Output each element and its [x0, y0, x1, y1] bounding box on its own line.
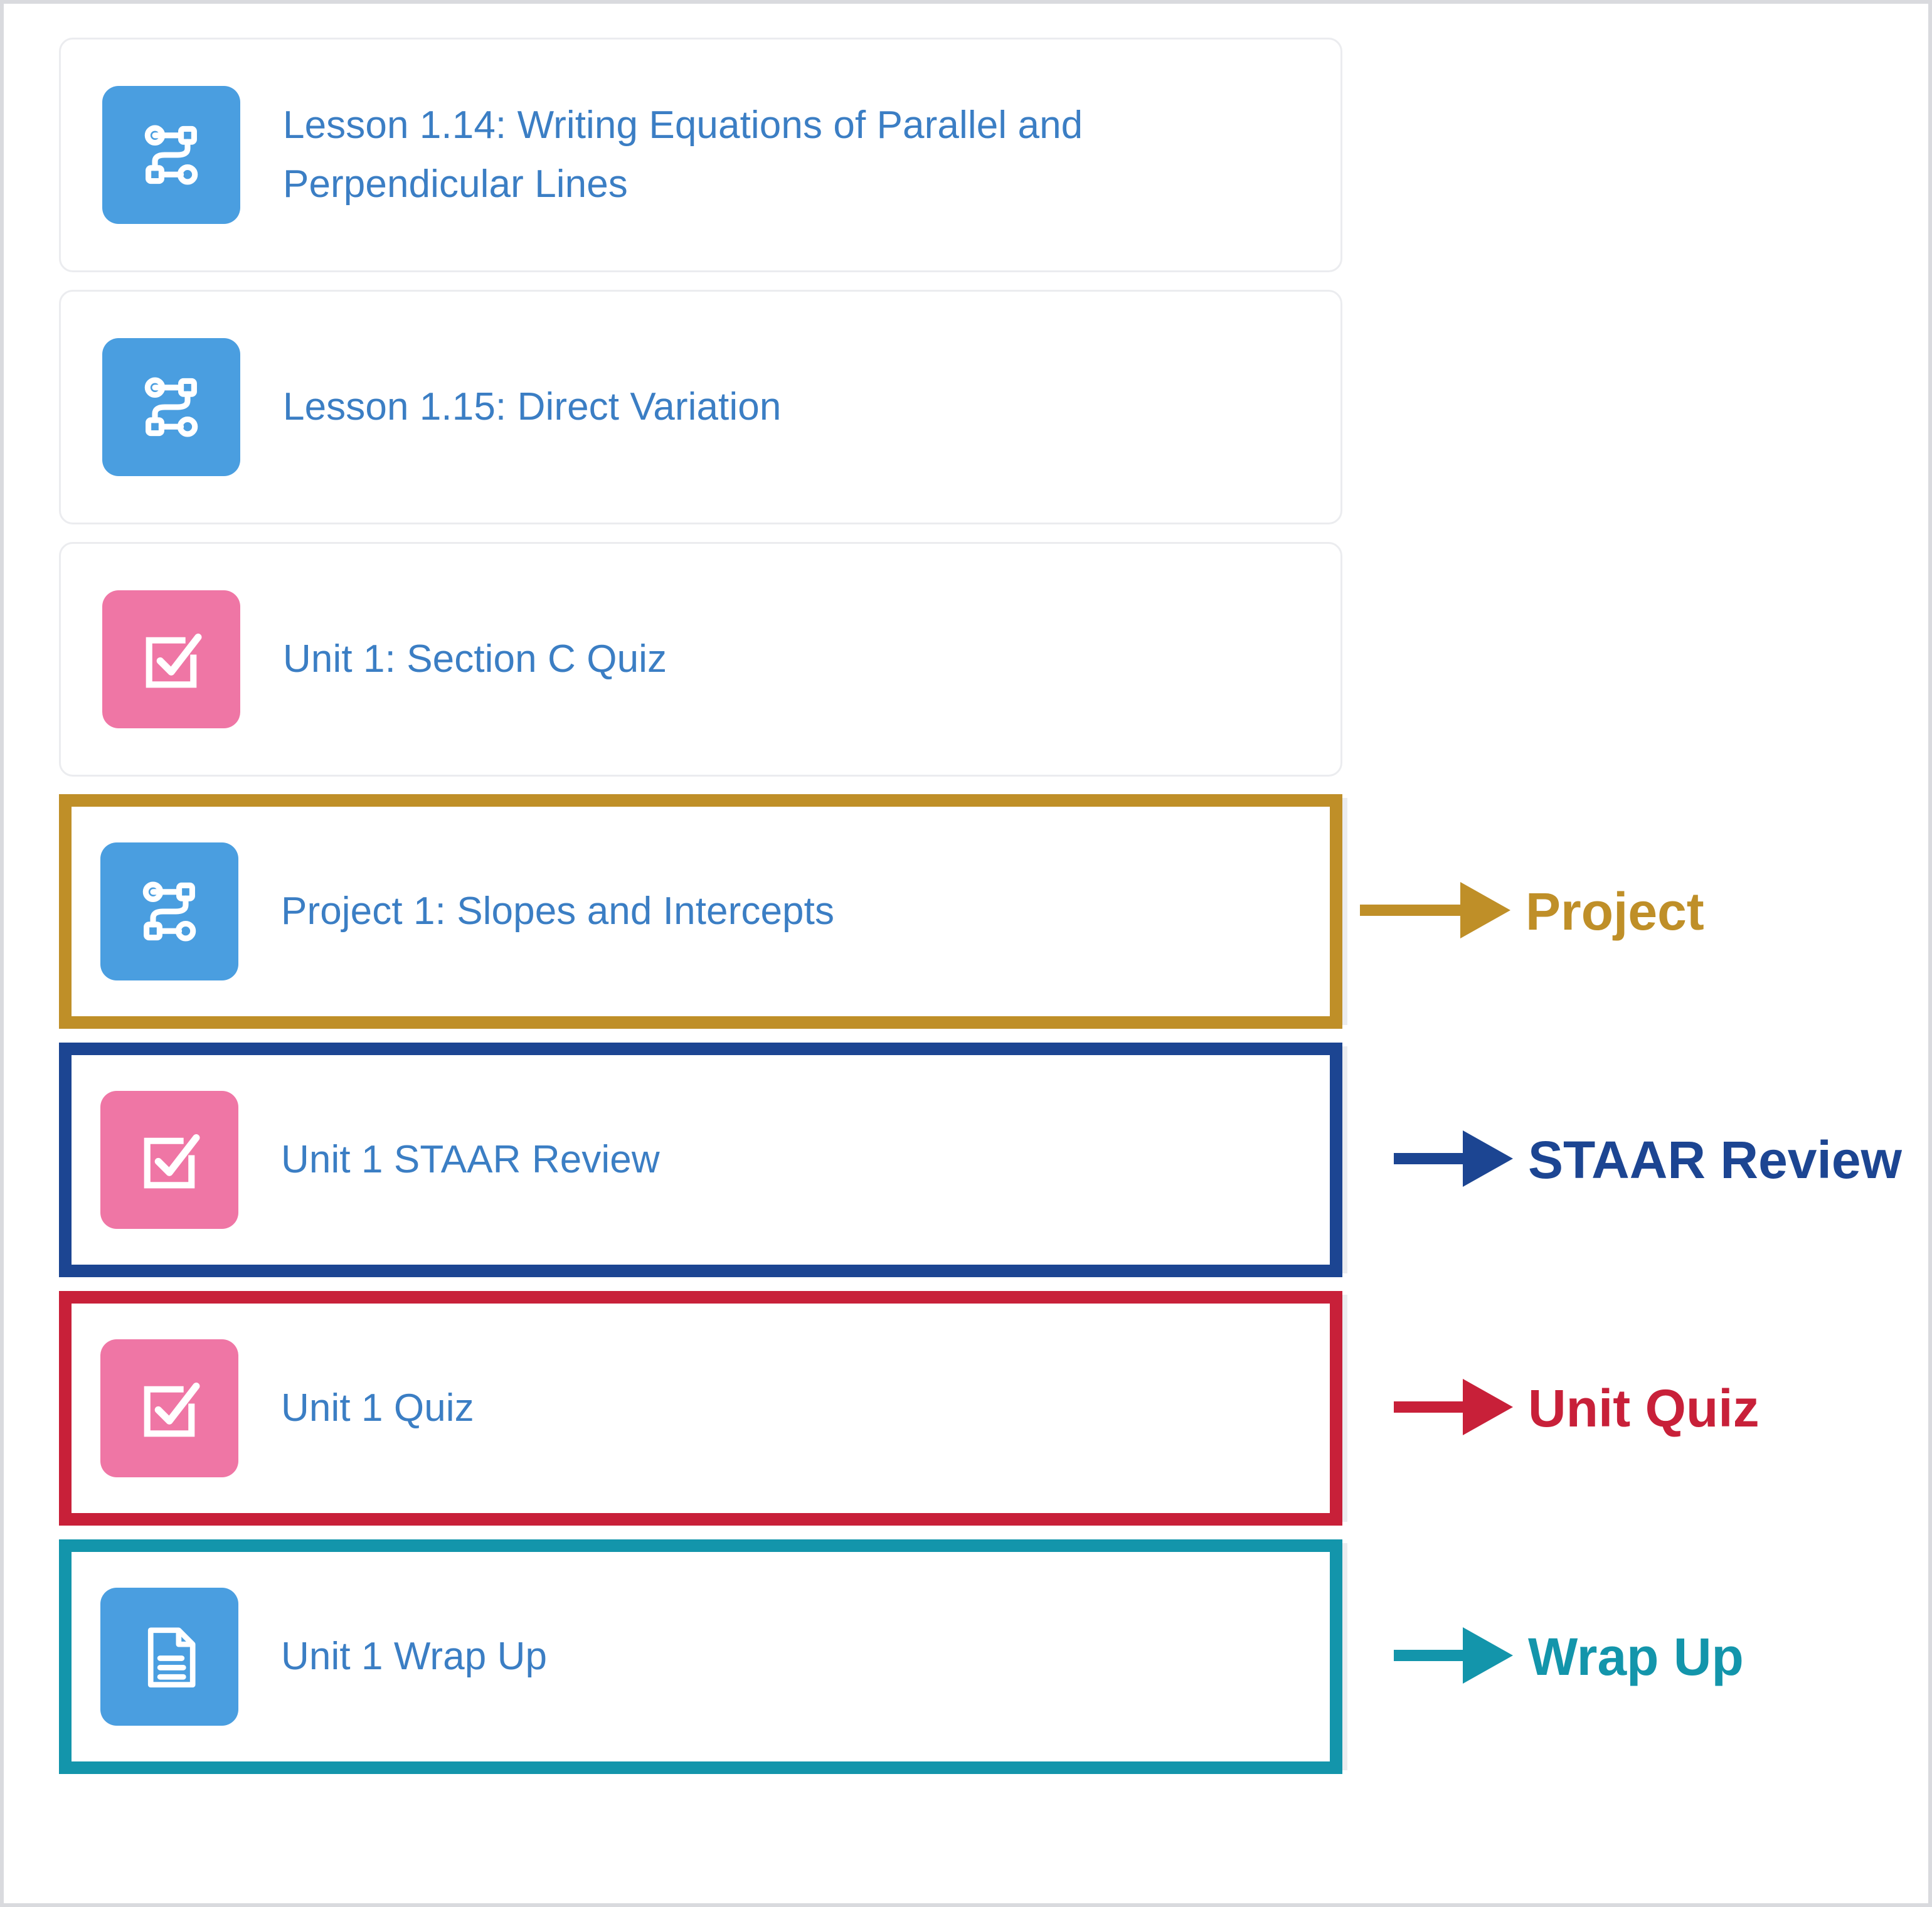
arrow-right-icon: [1394, 1360, 1519, 1457]
list-item-project-1[interactable]: Project 1: Slopes and Intercepts: [59, 794, 1342, 1029]
arrow-right-icon: [1394, 1112, 1519, 1209]
highlight-row-unit-quiz: Unit 1 Quiz Unit Quiz: [59, 1291, 1932, 1526]
annotation-project: Project: [1342, 794, 1704, 1029]
lesson-path-icon: [102, 86, 240, 224]
list-item-title: Unit 1 Quiz: [281, 1379, 474, 1438]
highlight-row-wrap-up: Unit 1 Wrap Up Wrap Up: [59, 1539, 1932, 1774]
list-item-title: Lesson 1.15: Direct Variation: [283, 378, 781, 437]
annotation-label: STAAR Review: [1528, 1134, 1902, 1186]
quiz-checkbox-icon: [102, 590, 240, 728]
list-item-lesson-1-14[interactable]: Lesson 1.14: Writing Equations of Parall…: [59, 38, 1342, 272]
highlight-row-staar-review: Unit 1 STAAR Review STAAR Review: [59, 1043, 1932, 1277]
quiz-checkbox-icon: [100, 1091, 238, 1229]
list-item-unit-1-section-c-quiz[interactable]: Unit 1: Section C Quiz: [59, 542, 1342, 777]
highlight-row-project: Project 1: Slopes and Intercepts Project: [59, 794, 1932, 1029]
arrow-right-icon: [1360, 863, 1517, 960]
list-item-title: Unit 1: Section C Quiz: [283, 630, 667, 689]
annotation-label: Project: [1526, 885, 1704, 938]
list-item-title: Unit 1 Wrap Up: [281, 1627, 547, 1686]
list-item-title: Project 1: Slopes and Intercepts: [281, 882, 834, 941]
document-icon: [100, 1588, 238, 1726]
list-item-unit-1-staar-review[interactable]: Unit 1 STAAR Review: [59, 1043, 1342, 1277]
lesson-path-icon: [100, 842, 238, 980]
list-item-title: Lesson 1.14: Writing Equations of Parall…: [283, 96, 1161, 214]
lesson-path-icon: [102, 338, 240, 476]
quiz-checkbox-icon: [100, 1339, 238, 1477]
annotation-staar-review: STAAR Review: [1342, 1043, 1902, 1277]
annotation-label: Unit Quiz: [1528, 1382, 1760, 1435]
list-item-unit-1-wrap-up[interactable]: Unit 1 Wrap Up: [59, 1539, 1342, 1774]
screenshot-frame: Lesson 1.14: Writing Equations of Parall…: [0, 0, 1932, 1907]
annotation-wrap-up: Wrap Up: [1342, 1539, 1744, 1774]
list-item-lesson-1-15[interactable]: Lesson 1.15: Direct Variation: [59, 290, 1342, 524]
annotation-unit-quiz: Unit Quiz: [1342, 1291, 1760, 1526]
list-item-title: Unit 1 STAAR Review: [281, 1130, 660, 1189]
annotation-label: Wrap Up: [1528, 1630, 1744, 1683]
list-item-unit-1-quiz[interactable]: Unit 1 Quiz: [59, 1291, 1342, 1526]
lesson-list: Lesson 1.14: Writing Equations of Parall…: [59, 38, 1342, 1788]
arrow-right-icon: [1394, 1608, 1519, 1706]
